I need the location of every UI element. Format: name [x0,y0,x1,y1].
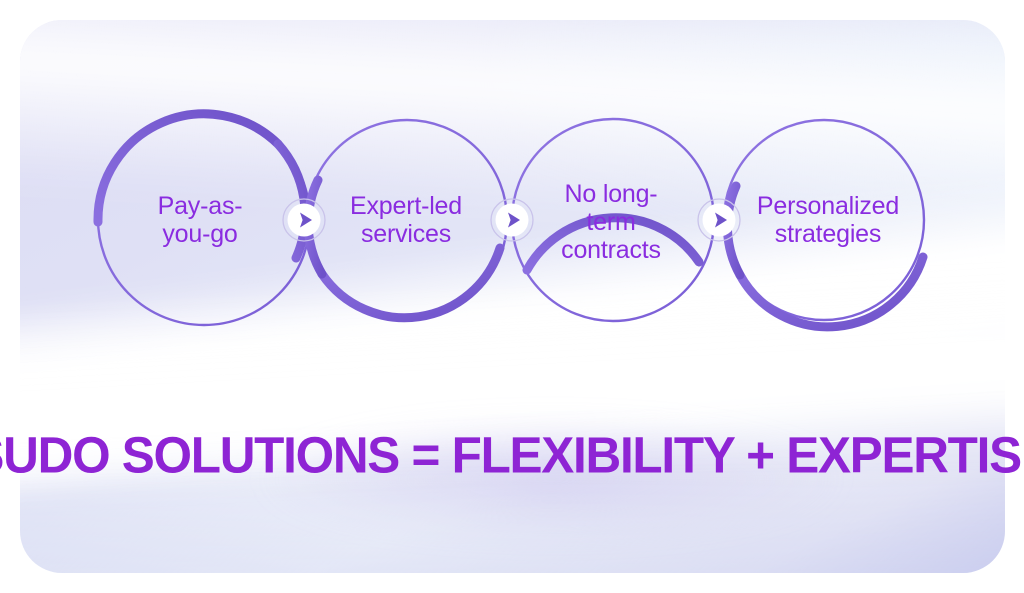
headline-text: SUDO SOLUTIONS = FLEXIBILITY + EXPERTISE [0,426,1024,485]
process-flow-diagram [0,0,1024,593]
step-label-4: Personalized strategies [757,192,899,248]
connector-badge-3[interactable] [698,199,740,241]
step-circle-4-emphasis [740,257,923,327]
step-label-2: Expert-led services [350,192,462,248]
step-label-1: Pay-as- you-go [158,192,243,248]
infographic-stage: Pay-as- you-go Expert-led services No lo… [0,0,1024,593]
connector-badge-1[interactable] [283,199,325,241]
connector-badge-2[interactable] [491,199,533,241]
step-label-3: No long- term contracts [561,180,661,264]
headline: SUDO SOLUTIONS = FLEXIBILITY + EXPERTISE [0,426,1024,485]
step-circle-2-emphasis [322,248,500,318]
